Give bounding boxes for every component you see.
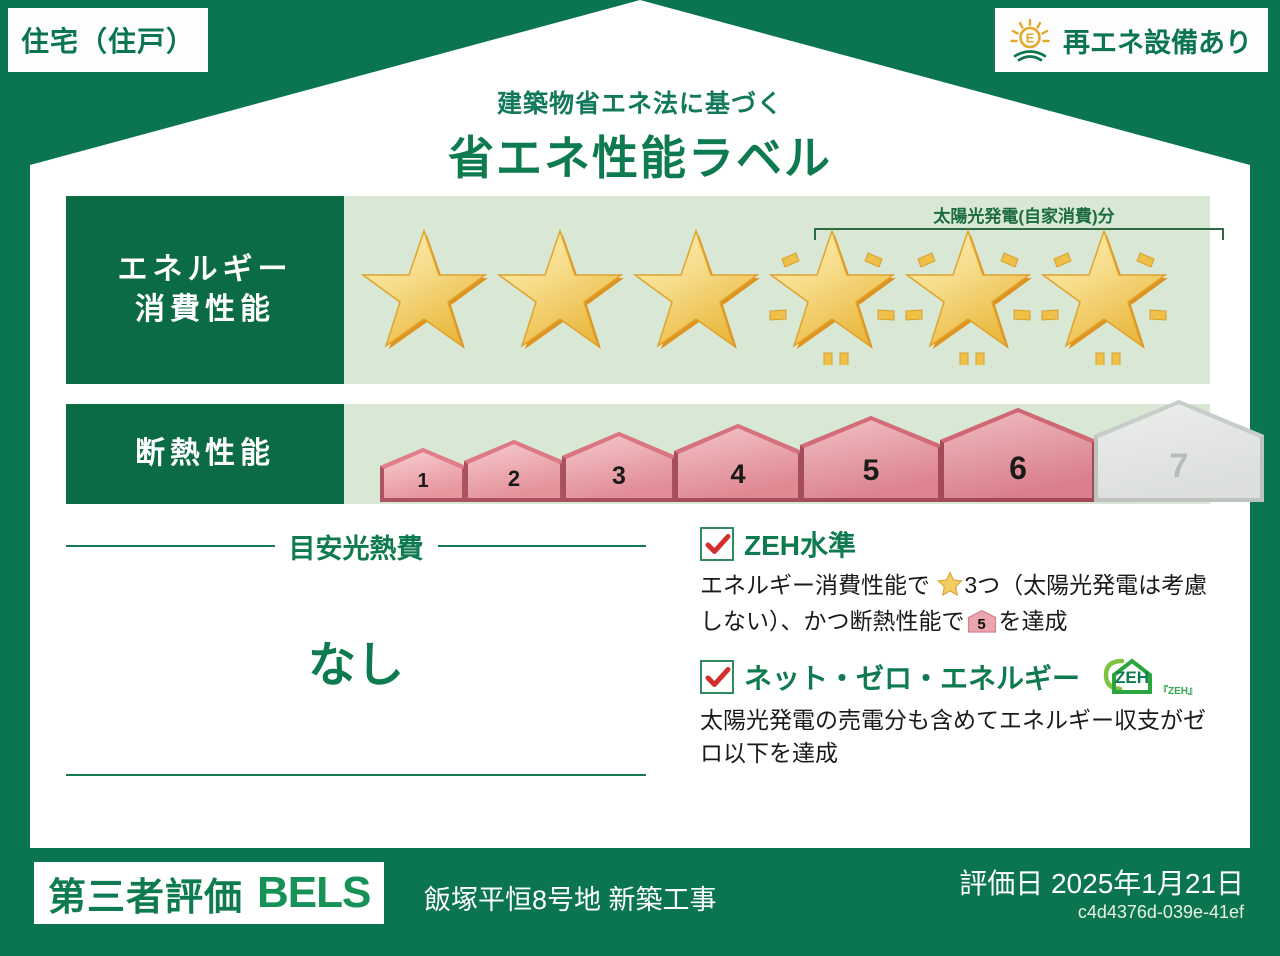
solar-sun-icon: E [1007,17,1053,63]
zeh-logo-mark: 『ZEH』 [1158,682,1198,697]
rule-right [438,545,647,547]
criterion-zeh-level-title: ZEH水準 [744,524,856,564]
renewable-energy-badge: E 再エネ設備あり [995,8,1268,72]
utility-cost-header: 目安光熱費 [66,536,646,556]
utility-cost-bottom-rule [66,774,646,776]
criterion-net-zero-energy-header: ネット・ゼロ・エネルギー ZEH 『ZEH』 [700,655,1220,699]
checkbox-zeh-level[interactable] [700,527,734,561]
svg-text:ZEH: ZEH [1115,668,1149,687]
header-subtitle: 建築物省エネ法に基づく [0,84,1280,120]
star-solar [900,215,1036,365]
star-rating [344,196,1210,384]
insulation-level-achieved: 3 [562,432,676,502]
insulation-level-number: 3 [562,462,676,491]
zeh-logo: ZEH 『ZEH』 [1094,655,1198,699]
energy-performance-row: エネルギー 消費性能 太陽光発電(自家消費)分 [66,196,1210,384]
bels-en-label: BELS [257,868,370,918]
building-name: 飯塚平恒8号地 新築工事 [424,878,717,917]
criterion-net-zero-energy-desc: 太陽光発電の売電分も含めてエネルギー収支がゼロ以下を達成 [700,704,1220,769]
utility-cost-section: 目安光熱費 なし [66,520,646,790]
insulation-level-achieved: 6 [940,408,1096,502]
bels-jp-label: 第三者評価 [48,866,243,921]
zeh-desc-part3: を達成 [999,608,1068,634]
category-tag: 住宅（住戸） [8,8,208,72]
checkbox-net-zero-energy[interactable] [700,660,734,694]
bels-logo: 第三者評価 BELS [34,862,384,924]
footer-bar: 第三者評価 BELS 飯塚平恒8号地 新築工事 評価日 2025年1月21日 c… [0,848,1280,956]
star-icon [931,575,963,601]
insulation-label-text: 断熱性能 [135,434,275,475]
insulation-level-number: 4 [674,459,802,490]
criterion-net-zero-energy-title: ネット・ゼロ・エネルギー [744,657,1080,697]
energy-stars-panel: 太陽光発電(自家消費)分 [344,196,1210,384]
insulation-level-scale: 1 2 [380,400,1264,502]
insulation-performance-label: 断熱性能 [66,404,344,504]
energy-performance-label: エネルギー 消費性能 [66,196,344,384]
insulation-badge-icon: 5 [967,609,997,642]
star-base [356,215,492,365]
star-base [492,215,628,365]
insulation-level-number: 7 [1094,447,1264,486]
criteria-section: ZEH水準 エネルギー消費性能で 3つ（太陽光発電は考慮しない）、かつ断熱性能で… [700,524,1220,784]
insulation-level-number: 5 [800,454,942,488]
insulation-level-number: 2 [464,466,564,492]
star-base [628,215,764,365]
energy-label-line1: エネルギー [118,250,293,291]
svg-text:E: E [1026,31,1035,46]
star-solar [1036,215,1172,365]
criterion-zeh-level-desc: エネルギー消費性能で 3つ（太陽光発電は考慮しない）、かつ断熱性能で 5を達成 [700,569,1220,641]
star-solar [764,215,900,365]
utility-cost-value: なし [66,625,646,695]
insulation-level-achieved: 1 [380,448,466,502]
renewable-badge-label: 再エネ設備あり [1063,21,1252,60]
insulation-level-number: 6 [940,450,1096,487]
criterion-zeh-level: ZEH水準 エネルギー消費性能で 3つ（太陽光発電は考慮しない）、かつ断熱性能で… [700,524,1220,641]
category-tag-label: 住宅（住戸） [21,20,195,60]
insulation-level-achieved: 4 [674,424,802,502]
insulation-level-achieved: 2 [464,440,564,502]
evaluation-date: 評価日 2025年1月21日 [959,862,1244,902]
insulation-badge-number: 5 [967,614,997,635]
criterion-zeh-level-header: ZEH水準 [700,524,1220,564]
insulation-level-achieved: 5 [800,416,942,502]
zeh-desc-part1: エネルギー消費性能で [700,572,930,598]
insulation-levels-panel: 1 2 [344,404,1210,504]
criterion-net-zero-energy: ネット・ゼロ・エネルギー ZEH 『ZEH』 太陽光発電の売電分も含めてエネルギ… [700,655,1220,769]
label-root: 住宅（住戸） E 再エネ設備あり 建築物省エネ [0,0,1280,956]
evaluation-id: c4d4376d-039e-41ef [1078,902,1244,923]
insulation-level-number: 1 [380,470,466,493]
page-title: 省エネ性能ラベル [0,122,1280,188]
insulation-level-unachieved: 7 [1094,400,1264,502]
rule-left [66,545,275,547]
energy-label-line2: 消費性能 [135,290,275,331]
insulation-performance-row: 断熱性能 1 [66,404,1210,504]
utility-cost-title: 目安光熱費 [275,527,438,566]
